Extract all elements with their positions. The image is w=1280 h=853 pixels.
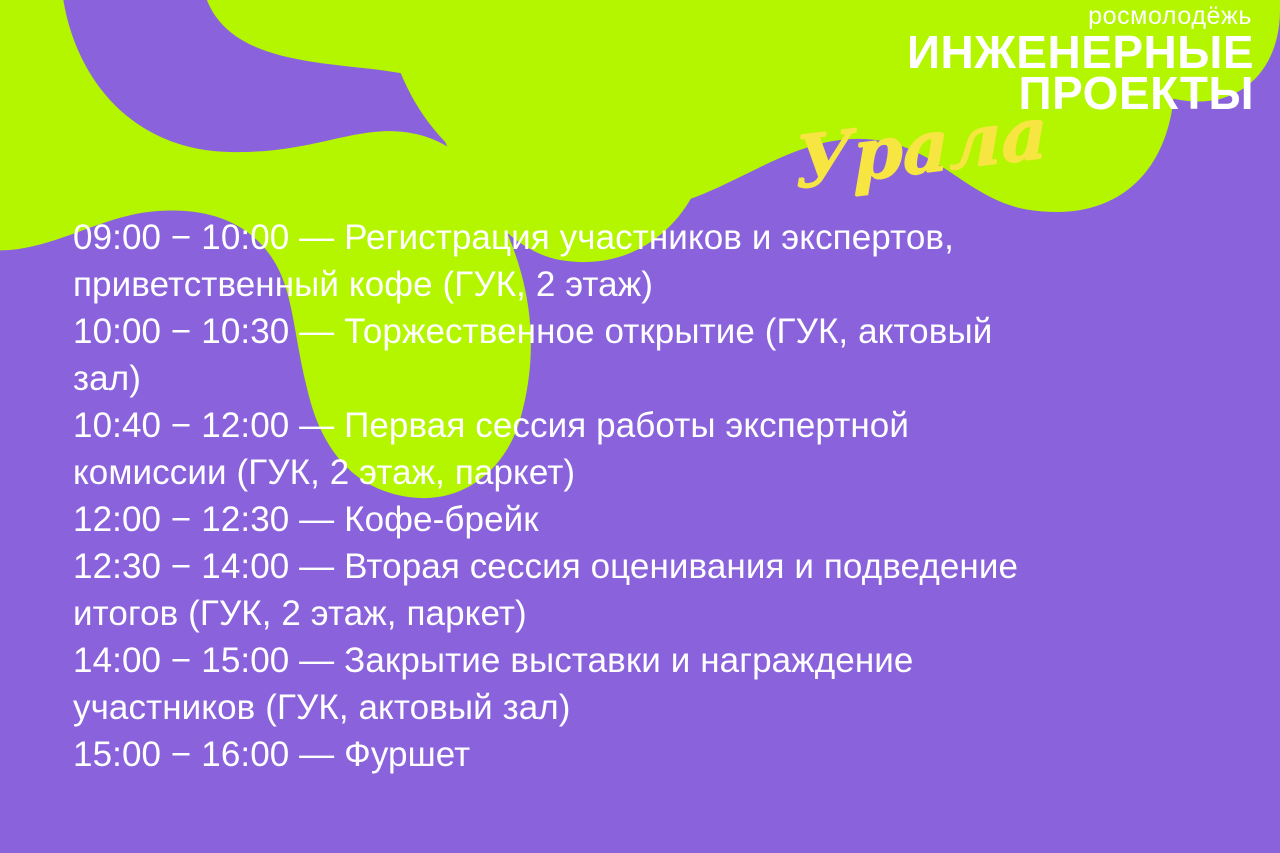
schedule-item: 15:00 − 16:00 — Фуршет [73, 731, 1213, 778]
poster-canvas: росмолодёжь ИНЖЕНЕРНЫЕ ПРОЕКТЫ Урала 09:… [0, 0, 1280, 853]
schedule-item: 09:00 − 10:00 — Регистрация участников и… [73, 214, 1213, 308]
schedule-item: 12:30 − 14:00 — Вторая сессия оценивания… [73, 543, 1213, 637]
schedule-item: 10:40 − 12:00 — Первая сессия работы экс… [73, 402, 1213, 496]
logo-script-urala: Урала [794, 96, 1048, 199]
schedule-item: 14:00 − 15:00 — Закрытие выставки и нагр… [73, 637, 1213, 731]
schedule-item: 10:00 − 10:30 — Торжественное открытие (… [73, 308, 1213, 402]
schedule-item: 12:00 − 12:30 — Кофе-брейк [73, 496, 1213, 543]
schedule-list: 09:00 − 10:00 — Регистрация участников и… [73, 214, 1213, 778]
